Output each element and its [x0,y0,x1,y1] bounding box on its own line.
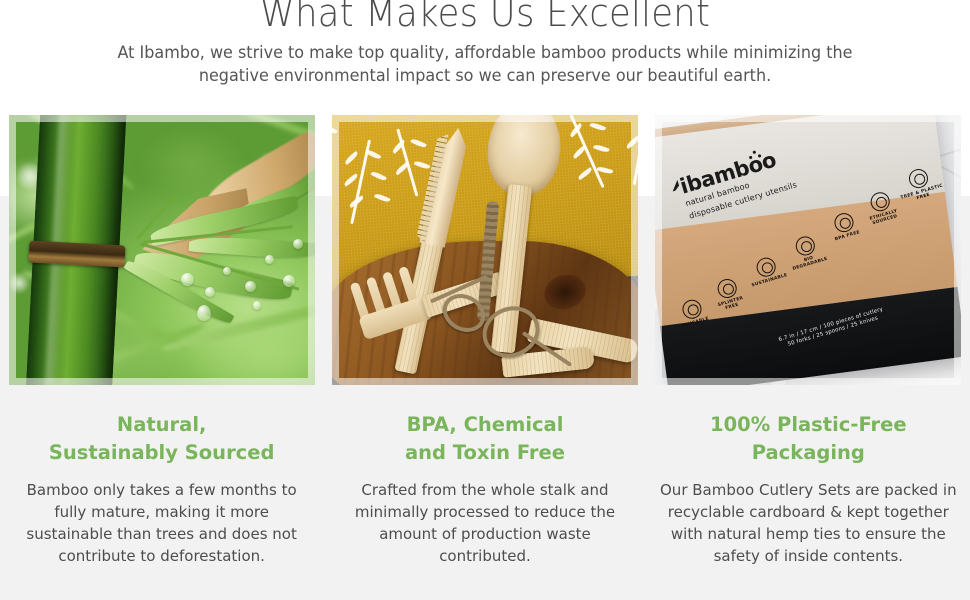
dew-drop [253,301,261,310]
badge-label: ETHICALLY SOURCED [863,207,906,229]
badge-splinter-free: SPLINTER FREE [705,274,752,315]
dew-drop [181,273,194,286]
feature-title: BPA, Chemicaland Toxin Free [335,411,635,467]
photo-scene: ibamboo natural bamboo disposable cutler… [655,115,961,385]
page-subtitle: At Ibambo, we strive to make top quality… [82,41,887,87]
badge-label: BIO DEGRADABLE [788,251,831,273]
bamboo-stalk-photo [9,115,315,385]
feature-column-toxin-free: BPA, Chemicaland Toxin Free Crafted from… [323,115,646,600]
box-badge-row: REUSABLE SPLINTER FREE SUSTAINABLE [655,115,961,385]
bamboo-packaging-photo: ibamboo natural bamboo disposable cutler… [655,115,961,385]
bokeh-highlight [9,273,29,293]
feature-description: Our Bamboo Cutlery Sets are packed in re… [656,479,960,567]
badge-bio-degradable: BIO DEGRADABLE [782,231,831,273]
badge-tree-plastic-free: TREE & PLASTIC FREE [895,163,946,206]
section-header: What Makes Us Excellent At Ibambo, we st… [0,0,970,87]
badge-label: SPLINTER FREE [711,294,752,315]
feature-column-packaging: ibamboo natural bamboo disposable cutler… [647,115,970,600]
photo-scene [9,115,315,385]
page-title: What Makes Us Excellent [34,0,936,32]
feature-title: Natural,Sustainably Sourced [12,411,312,467]
dew-drop [293,239,303,249]
dew-drop [283,275,295,287]
feature-column-natural: Natural,Sustainably Sourced Bamboo only … [0,115,323,600]
feature-title: 100% Plastic-FreePackaging [658,411,958,467]
dew-drop [223,267,231,275]
photo-scene [332,115,638,385]
dew-drop [205,287,215,297]
dew-drop [245,281,256,292]
feature-description: Crafted from the whole stalk and minimal… [335,479,635,567]
bamboo-cutlery-photo [332,115,638,385]
dew-drop [265,255,274,264]
packaging-box: ibamboo natural bamboo disposable cutler… [655,115,961,385]
feature-columns: Natural,Sustainably Sourced Bamboo only … [0,115,970,600]
badge-sustainable: SUSTAINABLE [743,252,791,289]
feature-description: Bamboo only takes a few months to fully … [14,479,310,567]
dew-drop [197,305,211,321]
